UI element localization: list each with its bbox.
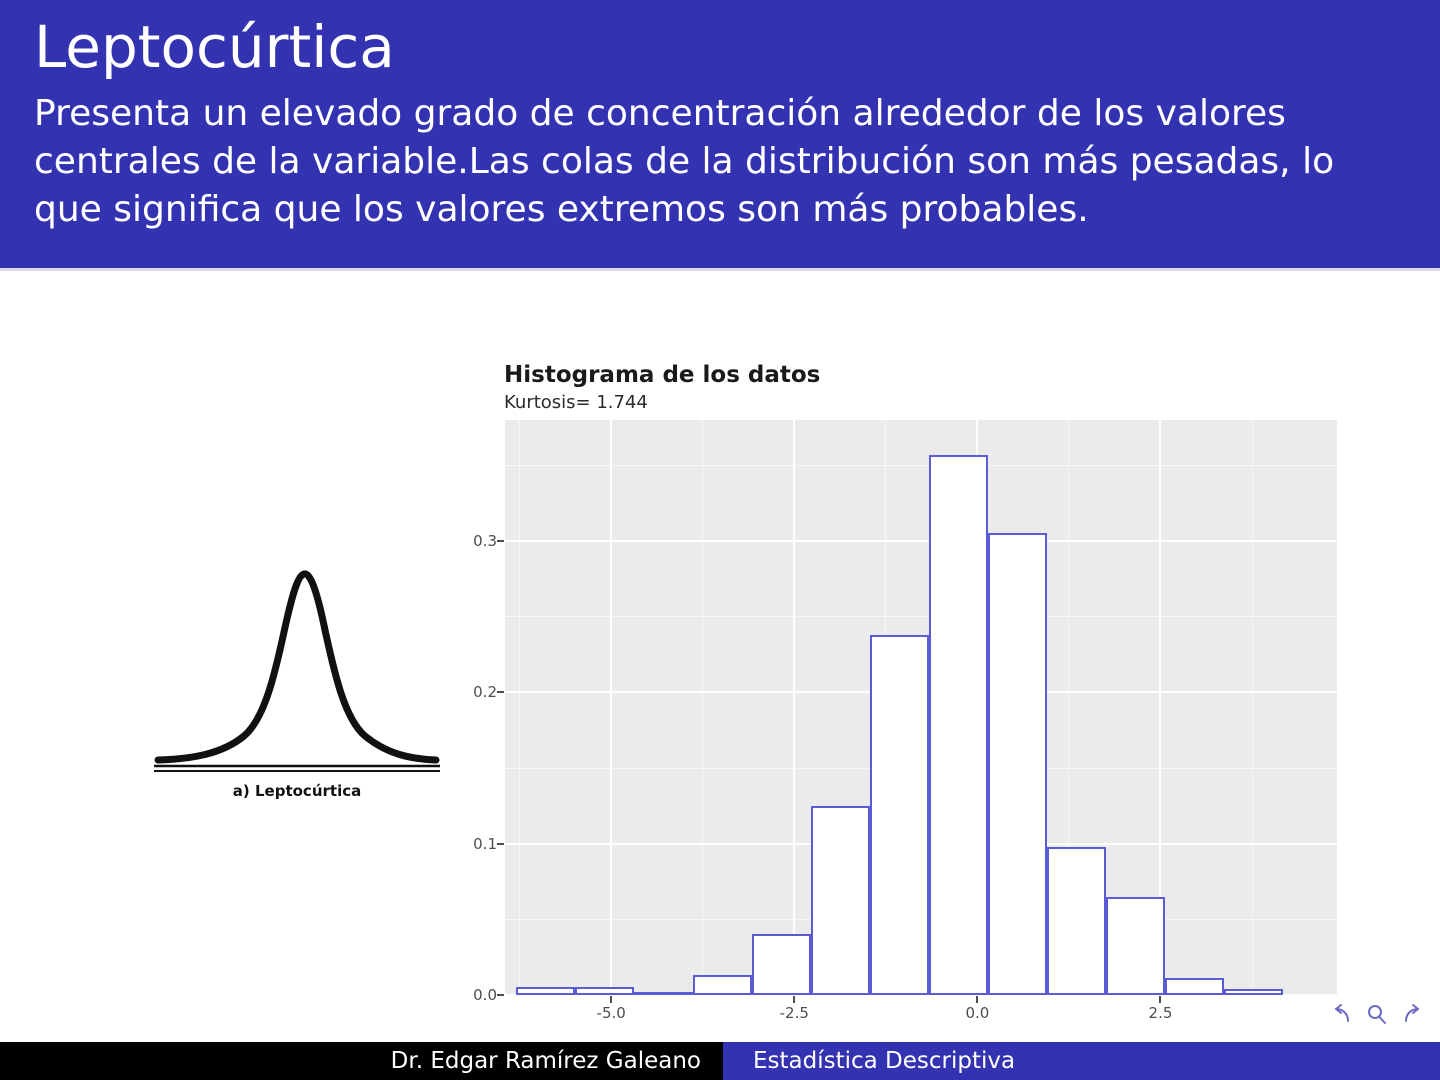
x-axis-tick-label: -2.5 [780,1004,809,1022]
y-axis-tick-mark [497,843,504,845]
leptokurtic-curve-figure [152,528,442,810]
histogram-bar [516,987,575,995]
histogram-bar [634,992,693,995]
leptokurtic-curve-icon [152,528,442,778]
histogram-bar [870,635,929,995]
y-axis-tick-label: 0.1 [473,835,497,853]
histogram-chart: Histograma de los datos Kurtosis= 1.744 … [460,352,1350,1032]
footer-author: Dr. Edgar Ramírez Galeano [0,1042,723,1080]
histogram-bar [929,455,988,995]
gridline-minor-y [505,616,1337,617]
chart-subtitle-kurtosis: Kurtosis= 1.744 [504,392,648,413]
x-axis-tick-mark [610,996,612,1003]
histogram-bar [575,987,634,995]
x-axis-tick-label: -5.0 [597,1004,626,1022]
redo-arrow-icon[interactable] [1400,1002,1426,1028]
y-axis-tick-label: 0.3 [473,532,497,550]
slide-footer: Dr. Edgar Ramírez Galeano Estadística De… [0,1042,1440,1080]
undo-arrow-icon[interactable] [1328,1002,1354,1028]
gridline-minor-x [1252,420,1253,995]
y-axis-tick-mark [497,691,504,693]
histogram-bar [752,934,811,995]
gridline-major-x [610,420,612,995]
x-axis-tick-label: 2.5 [1149,1004,1173,1022]
histogram-bar [1047,847,1106,995]
histogram-bar [1106,897,1165,995]
beamer-navigation-bar[interactable] [1328,1002,1426,1028]
gridline-major-y [505,540,1337,542]
x-axis-tick-mark [1159,996,1161,1003]
x-axis-tick-mark [976,996,978,1003]
y-axis-tick-label: 0.0 [473,986,497,1004]
slide-body-text: Presenta un elevado grado de concentraci… [34,90,1406,235]
histogram-bar [1224,989,1283,995]
chart-plot-panel [505,420,1337,995]
figure-caption: a) Leptocúrtica [152,782,442,800]
histogram-bar [693,975,752,995]
footer-course: Estadística Descriptiva [723,1042,1440,1080]
gridline-minor-x [702,420,703,995]
x-axis-tick-mark [793,996,795,1003]
chart-title: Histograma de los datos [504,362,820,388]
y-axis-tick-mark [497,994,504,996]
gridline-minor-y [505,465,1337,466]
slide-title-band: Leptocúrtica Presenta un elevado grado d… [0,0,1440,268]
title-band-divider [0,268,1440,271]
gridline-major-x [793,420,795,995]
histogram-bar [1165,978,1224,995]
x-axis-tick-label: 0.0 [965,1004,989,1022]
y-axis-tick-label: 0.2 [473,683,497,701]
y-axis-tick-mark [497,540,504,542]
gridline-minor-x [519,420,520,995]
histogram-bar [811,806,870,995]
histogram-bar [988,533,1047,995]
page-title: Leptocúrtica [34,18,1406,76]
magnifier-icon[interactable] [1364,1002,1390,1028]
